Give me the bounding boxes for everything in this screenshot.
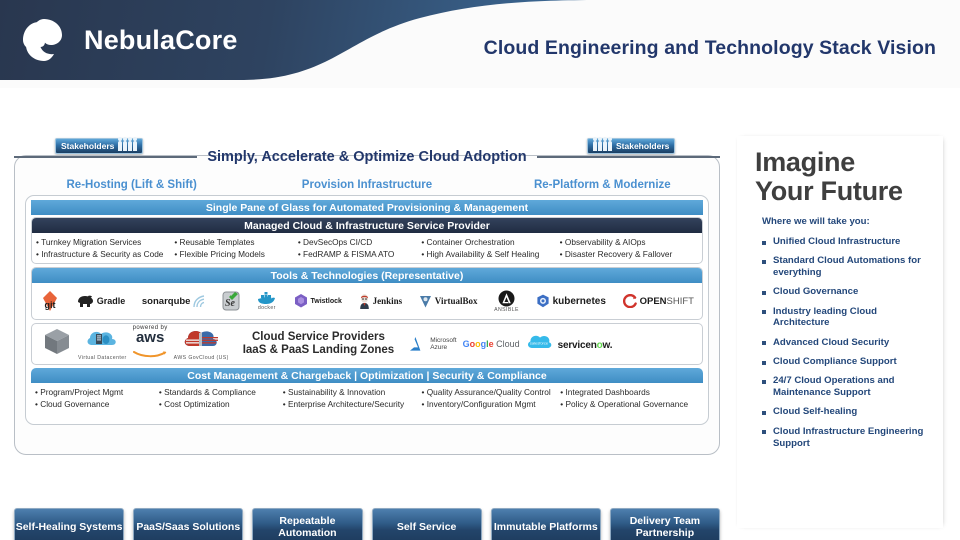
list-item-label: Cloud Self-healing [773,406,857,418]
gradle-elephant-icon [77,295,94,308]
diagram-inner-frame: Single Pane of Glass for Automated Provi… [25,195,709,425]
virtual-datacenter-icon [85,328,119,350]
page-header: NebulaCore Cloud Engineering and Technol… [0,0,960,88]
list-item-label: Cloud Compliance Support [773,356,897,368]
bullet-item: Cloud Governance [35,399,159,411]
datacenter-cube-icon [42,327,72,357]
kubernetes-helm-icon [536,294,550,308]
azure-label: MicrosoftAzure [430,337,456,351]
bar-single-pane-of-glass: Single Pane of Glass for Automated Provi… [31,200,703,215]
bullet-column: Integrated Dashboards Policy & Operation… [560,387,699,410]
bullet-square-icon [762,380,766,384]
bullet-item: Flexible Pricing Models [174,249,298,261]
panel-title-line2: Your Future [755,177,929,206]
csp-aws: powered by aws [133,325,168,363]
tool-gradle: Gradle [77,295,126,308]
bullet-square-icon [762,291,766,295]
banner-rule-right [537,156,720,158]
bullet-item: Policy & Operational Governance [560,399,699,411]
bullet-item: Infrastructure & Security as Code [36,249,174,261]
csp-aws-govcloud: AWS GovCloud (US) [174,328,229,361]
aws-govcloud-icon [182,328,220,350]
cost-management-section: Cost Management & Chargeback | Optimizat… [31,368,703,413]
bullet-column: Container Orchestration High Availabilit… [421,237,559,260]
openshift-icon [623,294,637,308]
jenkins-butler-icon [359,294,370,309]
bullet-item: DevSecOps CI/CD [298,237,422,249]
lane-title-provision: Provision Infrastructure [249,179,484,191]
list-item: Industry leading Cloud Architecture [762,306,929,330]
csp-virtual-datacenter: Virtual Datacenter [78,328,127,361]
list-item: Cloud Infrastructure Engineering Support [762,426,929,450]
csp-datacenter [42,327,72,362]
brand: NebulaCore [18,14,238,66]
svg-text:git: git [45,300,56,310]
list-item-label: 24/7 Cloud Operations and Maintenance Su… [773,375,929,399]
tool-sonarqube: sonarqube [142,295,206,308]
list-item: Unified Cloud Infrastructure [762,236,929,248]
list-item-label: Unified Cloud Infrastructure [773,236,900,248]
bullet-item: Quality Assurance/Quality Control [422,387,561,399]
twistlock-icon [294,294,308,308]
tool-git: git [40,290,60,312]
csp-servicenow: servicenow. [558,335,613,353]
bullet-item: Enterprise Architecture/Security [283,399,422,411]
bullet-item: Observability & AIOps [560,237,698,249]
bullet-square-icon [762,241,766,245]
pill-self-service[interactable]: Self Service [372,508,482,540]
bullet-column: DevSecOps CI/CD FedRAMP & FISMA ATO [298,237,422,260]
bullet-item: Container Orchestration [421,237,559,249]
cloud-providers-row: Virtual Datacenter powered by aws [32,324,702,364]
bar-cost-management: Cost Management & Chargeback | Optimizat… [31,368,703,383]
aws-wordmark: aws [133,331,168,345]
bullet-square-icon [762,430,766,434]
panel-subtitle: Where we will take you: [762,216,929,227]
bullet-item: Program/Project Mgmt [35,387,159,399]
csp-google-cloud: Google Cloud [463,339,520,349]
csp-salesforce: salesforce [526,333,552,355]
bullet-column: Quality Assurance/Quality Control Invent… [422,387,561,410]
list-item: Cloud Compliance Support [762,356,929,368]
pill-repeatable-automation[interactable]: Repeatable Automation [252,508,362,540]
bullet-square-icon [762,310,766,314]
csp-caption: AWS GovCloud (US) [174,355,229,361]
bullet-item: FedRAMP & FISMA ATO [298,249,422,261]
tool-virtualbox: VirtualBox [419,295,478,308]
list-item: 24/7 Cloud Operations and Maintenance Su… [762,375,929,399]
list-item: Standard Cloud Automations for everythin… [762,255,929,279]
page-title: Cloud Engineering and Technology Stack V… [484,37,936,60]
bullet-item: Integrated Dashboards [560,387,699,399]
tool-label: Twistlock [311,298,342,305]
google-cloud-label: Google Cloud [463,339,520,349]
list-item: Advanced Cloud Security [762,337,929,349]
slide-body: Stakeholders Stakeholders Simply, Accele… [0,88,960,540]
tool-openshift: OPENSHIFT [623,294,694,308]
bullet-item: Standards & Compliance [159,387,283,399]
tool-label: kubernetes [553,296,606,307]
tool-label: Jenkins [373,296,403,306]
tool-kubernetes: kubernetes [536,294,606,308]
tool-twistlock: Twistlock [294,294,342,308]
bullet-column: Standards & Compliance Cost Optimization [159,387,283,410]
list-item-label: Industry leading Cloud Architecture [773,306,929,330]
lane-titles: Re-Hosting (Lift & Shift) Provision Infr… [14,179,720,191]
tool-docker: docker [257,291,277,311]
bullet-item: High Availability & Self Healing [421,249,559,261]
sonarqube-waves-icon [193,295,205,308]
banner-rule-left [14,156,197,158]
brand-name: NebulaCore [84,25,238,56]
tool-label-open: OPEN [640,296,667,307]
bullet-item: Disaster Recovery & Fallover [560,249,698,261]
docker-whale-icon [257,291,277,305]
outcome-pills: Self-Healing Systems PaaS/Saas Solutions… [14,508,720,540]
svg-text:Se: Se [225,298,236,309]
panel-benefit-list: Unified Cloud Infrastructure Standard Cl… [762,236,929,449]
cloud-stack-diagram: Stakeholders Stakeholders Simply, Accele… [14,138,720,496]
pill-delivery-team-partnership[interactable]: Delivery Team Partnership [610,508,720,540]
tool-label: Gradle [97,296,126,306]
cost-management-bullets: Program/Project Mgmt Cloud Governance St… [31,383,703,413]
tool-label: VirtualBox [435,296,478,306]
panel-title-line1: Imagine [755,148,929,177]
tools-logo-row: git Gradle sonarqube [32,283,702,319]
pill-immutable-platforms[interactable]: Immutable Platforms [491,508,601,540]
bullet-column: Observability & AIOps Disaster Recovery … [560,237,698,260]
list-item-label: Standard Cloud Automations for everythin… [773,255,929,279]
azure-icon [408,336,427,352]
tool-label-shift: SHIFT [667,296,694,307]
bullet-item: Cost Optimization [159,399,283,411]
bar-tools-technologies: Tools & Technologies (Representative) [32,268,702,283]
bullet-item: Inventory/Configuration Mgmt [422,399,561,411]
list-item: Cloud Self-healing [762,406,929,418]
lane-title-replatform: Re-Platform & Modernize [485,179,720,191]
managed-cloud-bullets: Turnkey Migration Services Infrastructur… [32,233,702,263]
list-item-label: Advanced Cloud Security [773,337,889,349]
git-icon: git [40,290,60,312]
bar-managed-cloud: Managed Cloud & Infrastructure Service P… [32,218,702,233]
csp-title-line1: Cloud Service Providers [243,331,394,345]
bullet-column: Program/Project Mgmt Cloud Governance [35,387,159,410]
list-item-label: Cloud Governance [773,286,858,298]
bullet-item: Reusable Templates [174,237,298,249]
tool-selenium: Se [222,291,240,311]
tool-label: ANSIBLE [494,307,519,313]
list-item: Cloud Governance [762,286,929,298]
bullet-item: Turnkey Migration Services [36,237,174,249]
selenium-icon: Se [222,291,240,311]
pill-self-healing-systems[interactable]: Self-Healing Systems [14,508,124,540]
aws-smile-icon [133,351,167,358]
lane-title-rehosting: Re-Hosting (Lift & Shift) [14,179,249,191]
bullet-column: Sustainability & Innovation Enterprise A… [283,387,422,410]
managed-cloud-section: Managed Cloud & Infrastructure Service P… [31,217,703,264]
bullet-square-icon [762,361,766,365]
csp-title-line2: IaaS & PaaS Landing Zones [243,344,394,358]
salesforce-cloud-icon: salesforce [526,333,552,350]
virtualbox-icon [419,295,432,308]
tool-ansible: ANSIBLE [494,290,519,313]
nebula-swirl-icon [18,14,70,66]
bullet-column: Reusable Templates Flexible Pricing Mode… [174,237,298,260]
cloud-providers-section: Virtual Datacenter powered by aws [31,323,703,365]
csp-caption: Virtual Datacenter [78,355,127,361]
tool-label: sonarqube [142,296,191,307]
bullet-square-icon [762,341,766,345]
banner-title-text: Simply, Accelerate & Optimize Cloud Adop… [207,149,526,165]
diagram-banner: Simply, Accelerate & Optimize Cloud Adop… [14,149,720,165]
pill-paas-saas-solutions[interactable]: PaaS/Saas Solutions [133,508,243,540]
csp-azure: MicrosoftAzure [408,336,456,352]
bullet-item: Sustainability & Innovation [283,387,422,399]
csp-title: Cloud Service Providers IaaS & PaaS Land… [235,331,402,358]
servicenow-label: servicenow. [558,340,613,351]
imagine-your-future-panel: Imagine Your Future Where we will take y… [737,136,943,528]
bullet-column: Turnkey Migration Services Infrastructur… [36,237,174,260]
tool-jenkins: Jenkins [359,294,403,309]
svg-text:salesforce: salesforce [530,340,549,345]
tools-section: Tools & Technologies (Representative) gi… [31,267,703,320]
bullet-square-icon [762,260,766,264]
list-item-label: Cloud Infrastructure Engineering Support [773,426,929,450]
ansible-icon [498,290,515,307]
tool-label: docker [258,305,276,311]
bullet-square-icon [762,411,766,415]
